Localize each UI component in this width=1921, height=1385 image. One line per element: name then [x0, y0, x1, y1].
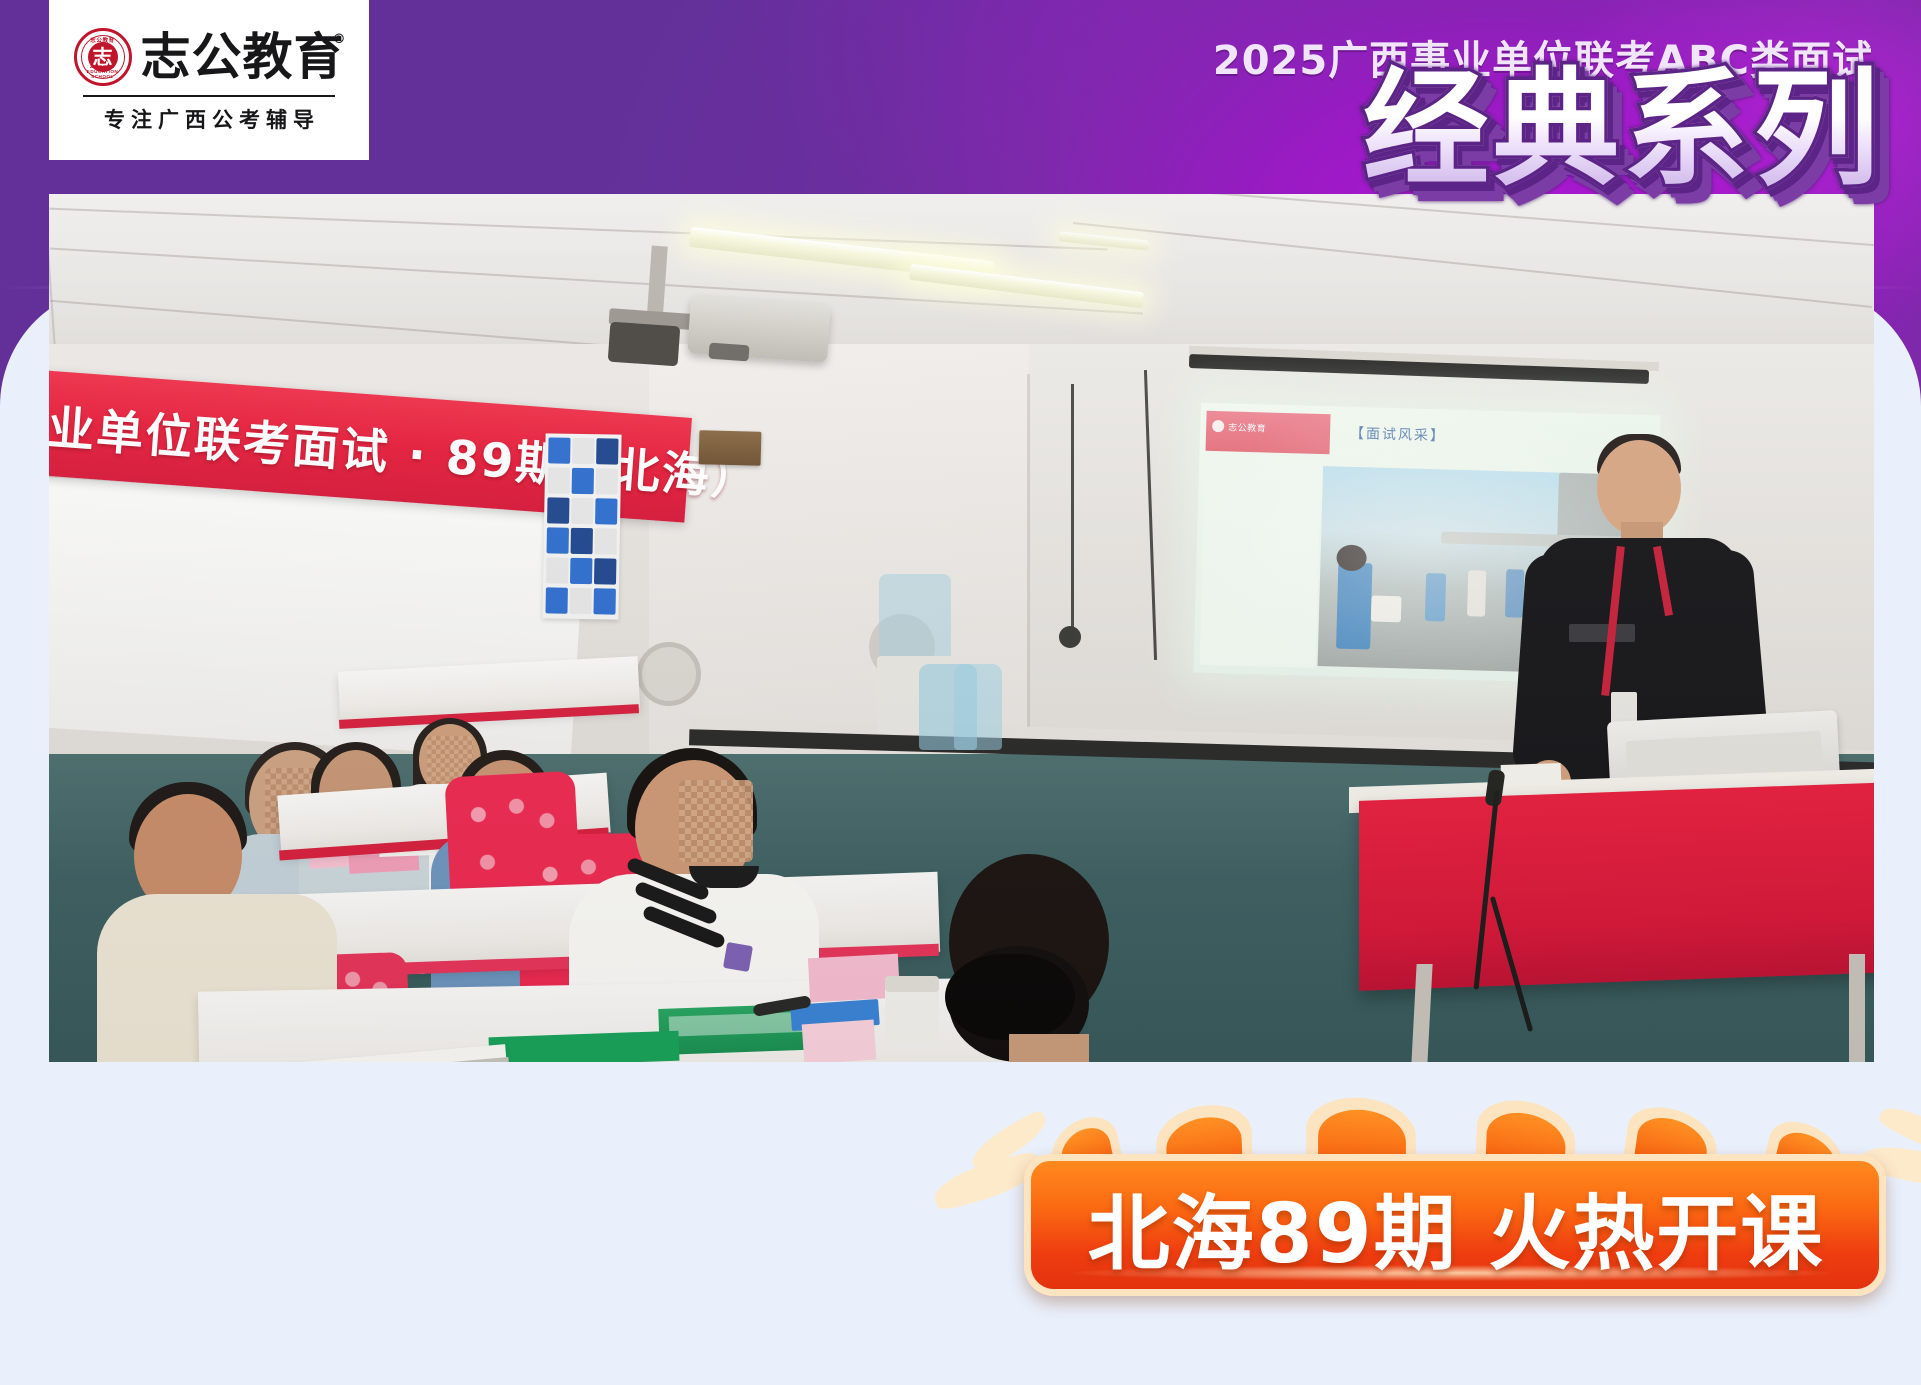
photo-color-tone — [49, 194, 1874, 1062]
registered-mark-icon: ® — [333, 33, 347, 46]
poster-root: 2025广西事业单位联考ABC类面试 经典系列 经典系列 志公教育 志 ZHIG… — [0, 0, 1921, 1385]
classroom-photo: 业单位联考面试 · 89期（北海） 志公教育 【面试风采】 — [49, 194, 1874, 1062]
logo-row: 志公教育 志 ZHIGONG EDUCATION SCHOOL 志公教育 ® — [74, 28, 345, 86]
seal-top-text: 志公教育 — [77, 36, 129, 44]
circular-seal-icon: 志公教育 志 ZHIGONG EDUCATION SCHOOL — [74, 28, 132, 86]
logo-subtitle: 专注广西公考辅导 — [98, 104, 320, 134]
seal-bottom-text: ZHIGONG EDUCATION SCHOOL — [77, 64, 129, 79]
logo-title-text: 志公教育 — [141, 28, 345, 86]
header-title-shadow: 经典系列 — [1363, 62, 1883, 198]
logo-divider — [83, 95, 335, 97]
cta-banner-text: 北海89期 火热开课 — [1006, 1166, 1906, 1286]
brand-logo-box[interactable]: 志公教育 志 ZHIGONG EDUCATION SCHOOL 志公教育 ® 专… — [49, 0, 369, 160]
logo-title: 志公教育 ® — [141, 32, 345, 82]
cta-flame-banner[interactable]: 北海89期 火热开课 — [1006, 1120, 1906, 1320]
